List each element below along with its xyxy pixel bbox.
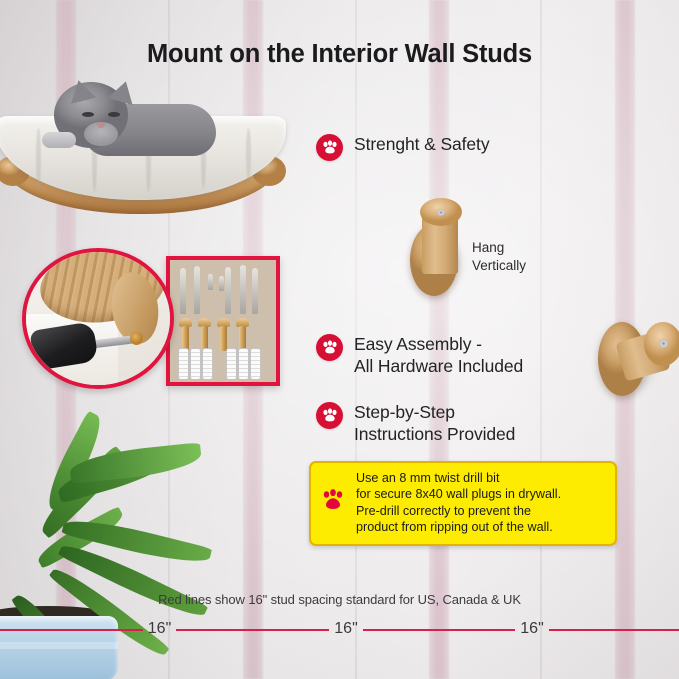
ruler-segment-2: 16"	[253, 622, 439, 638]
paw-icon	[319, 486, 347, 519]
feature-label: Easy Assembly - All Hardware Included	[354, 333, 523, 377]
wall-peg-angled	[596, 314, 679, 400]
ruler-segment-1: 16"	[66, 622, 253, 638]
ruler-stub-left	[0, 629, 66, 631]
feature-label: Strenght & Safety	[354, 133, 489, 155]
drill-closeup-inset	[22, 248, 174, 389]
feature-easy-assembly: Easy Assembly - All Hardware Included	[316, 333, 523, 377]
feature-label: Step-by-Step Instructions Provided	[354, 401, 515, 445]
cat-illustration	[38, 74, 218, 160]
stud-spacing-caption: Red lines show 16" stud spacing standard…	[0, 592, 679, 607]
cat-hammock-illustration	[0, 76, 290, 216]
paw-badge-icon	[316, 402, 343, 429]
wall-peg-vertical	[404, 200, 476, 302]
warning-text: Use an 8 mm twist drill bit for secure 8…	[356, 470, 561, 536]
feature-strength-safety: Strenght & Safety	[316, 133, 489, 161]
warning-box: Use an 8 mm twist drill bit for secure 8…	[309, 461, 617, 546]
cat-eye-right	[108, 112, 120, 117]
feature-step-by-step: Step-by-Step Instructions Provided	[316, 401, 515, 445]
ruler-stub-right	[625, 629, 679, 631]
paw-badge-icon	[316, 334, 343, 361]
hardware-tray	[166, 256, 280, 386]
infographic-canvas: Mount on the Interior Wall Studs Strengh…	[0, 0, 679, 679]
page-title: Mount on the Interior Wall Studs	[0, 40, 679, 69]
screw-head	[130, 332, 143, 345]
ruler-segment-3: 16"	[439, 622, 625, 638]
cat-eye-left	[82, 112, 94, 117]
paw-badge-icon	[316, 134, 343, 161]
ruler-label: 16"	[143, 620, 176, 638]
hang-vertically-label: Hang Vertically	[472, 239, 526, 275]
ruler-label: 16"	[329, 620, 362, 638]
ruler-label: 16"	[515, 620, 548, 638]
